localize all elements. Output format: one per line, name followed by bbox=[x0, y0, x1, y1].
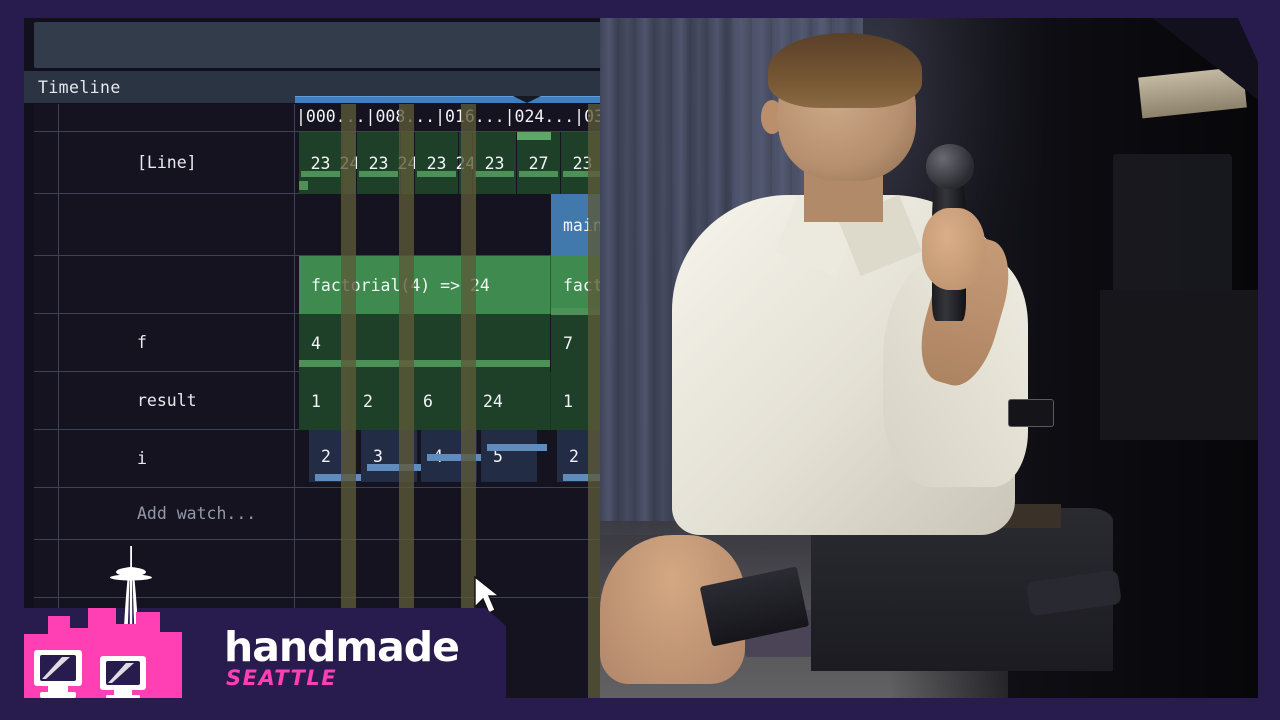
i-value: 3 bbox=[373, 447, 383, 466]
i-value-bar bbox=[427, 454, 487, 461]
line-value-cell[interactable]: 27 bbox=[517, 132, 561, 194]
result-value-cell[interactable]: 1 bbox=[299, 372, 351, 430]
brand-name: handmade bbox=[224, 626, 494, 668]
f-value-bar bbox=[299, 360, 550, 367]
row-label bbox=[59, 540, 295, 597]
line-value-cell[interactable]: 23 bbox=[561, 132, 605, 194]
row-label-i[interactable]: i bbox=[59, 430, 295, 487]
wristwatch bbox=[1008, 399, 1054, 428]
brand-wordmark: handmade SEATTLE bbox=[224, 626, 494, 696]
result-value-cell[interactable]: 1 bbox=[551, 372, 603, 430]
row-label-f[interactable]: f bbox=[59, 314, 295, 371]
line-value-cell[interactable]: 24 bbox=[401, 132, 415, 194]
line-value-bar bbox=[519, 171, 558, 177]
frame-edge-left bbox=[0, 0, 24, 720]
i-value: 2 bbox=[569, 447, 579, 466]
result-value: 6 bbox=[423, 392, 433, 411]
row-gutter bbox=[34, 540, 59, 597]
callstack-frame-factorial-4[interactable]: factorial(4) => 24 bbox=[299, 256, 551, 314]
i-value-bar bbox=[315, 474, 365, 481]
line-value-cell[interactable]: 23 bbox=[415, 132, 459, 194]
f-value: 4 bbox=[311, 334, 321, 353]
i-value: 2 bbox=[321, 447, 331, 466]
line-value: 27 bbox=[529, 154, 549, 173]
line-value: 23 bbox=[427, 154, 447, 173]
f-value: 7 bbox=[563, 334, 573, 353]
row-label bbox=[59, 104, 295, 131]
line-value: 23 bbox=[311, 154, 331, 173]
line-value-bar bbox=[563, 171, 602, 177]
row-label bbox=[59, 256, 295, 313]
frame-edge-right bbox=[1258, 0, 1280, 720]
result-value: 1 bbox=[563, 392, 573, 411]
row-gutter bbox=[34, 194, 59, 255]
row-gutter bbox=[34, 372, 59, 429]
row-label-result[interactable]: result bbox=[59, 372, 295, 429]
line-value-cell[interactable]: 23 bbox=[357, 132, 401, 194]
line-value: 23 bbox=[485, 154, 505, 173]
line-value-bar bbox=[475, 171, 514, 177]
frame-edge-bottom bbox=[0, 698, 1280, 720]
line-value-cell[interactable]: 24 bbox=[343, 132, 357, 194]
i-value-cell[interactable]: 3 bbox=[361, 430, 417, 482]
frame-edge-top bbox=[0, 0, 1280, 18]
speaker-video-feed bbox=[600, 18, 1258, 698]
line-value-bar bbox=[417, 171, 456, 177]
row-gutter bbox=[34, 256, 59, 313]
screenshot-stage: Timeline |000...|008...|016...|024...|03… bbox=[0, 0, 1280, 720]
row-gutter bbox=[34, 430, 59, 487]
speaker-hand bbox=[922, 208, 985, 290]
line-start-marker bbox=[299, 181, 308, 190]
row-gutter bbox=[34, 104, 59, 131]
line-value-cell[interactable]: 23 bbox=[473, 132, 517, 194]
page-title: Timeline bbox=[24, 78, 121, 97]
microphone-head bbox=[926, 144, 975, 189]
line-value-cell[interactable]: 24 bbox=[459, 132, 473, 194]
speaker-hair bbox=[768, 33, 923, 108]
side-table bbox=[1100, 290, 1258, 440]
line-value: 23 bbox=[369, 154, 389, 173]
row-gutter bbox=[34, 488, 59, 539]
f-value-cell[interactable]: 4 bbox=[299, 314, 551, 372]
line-value-bar bbox=[301, 171, 340, 177]
retro-computers-icon bbox=[22, 598, 212, 698]
result-value-cell[interactable]: 2 bbox=[351, 372, 411, 430]
i-value-bar bbox=[487, 444, 547, 451]
row-gutter bbox=[34, 132, 59, 193]
i-value-bar bbox=[367, 464, 427, 471]
result-value: 1 bbox=[311, 392, 321, 411]
add-watch-input[interactable]: Add watch... bbox=[59, 488, 295, 539]
line-value-bar bbox=[359, 171, 398, 177]
result-value-cell[interactable]: 6 bbox=[411, 372, 471, 430]
line-highlight-tab bbox=[517, 132, 551, 140]
result-value: 2 bbox=[363, 392, 373, 411]
row-gutter bbox=[34, 314, 59, 371]
result-value: 24 bbox=[483, 392, 503, 411]
row-label bbox=[59, 194, 295, 255]
line-value: 23 bbox=[573, 154, 593, 173]
i-value-cell[interactable]: 5 bbox=[481, 430, 537, 482]
result-value-cell[interactable]: 24 bbox=[471, 372, 551, 430]
row-label-line[interactable]: [Line] bbox=[59, 132, 295, 193]
